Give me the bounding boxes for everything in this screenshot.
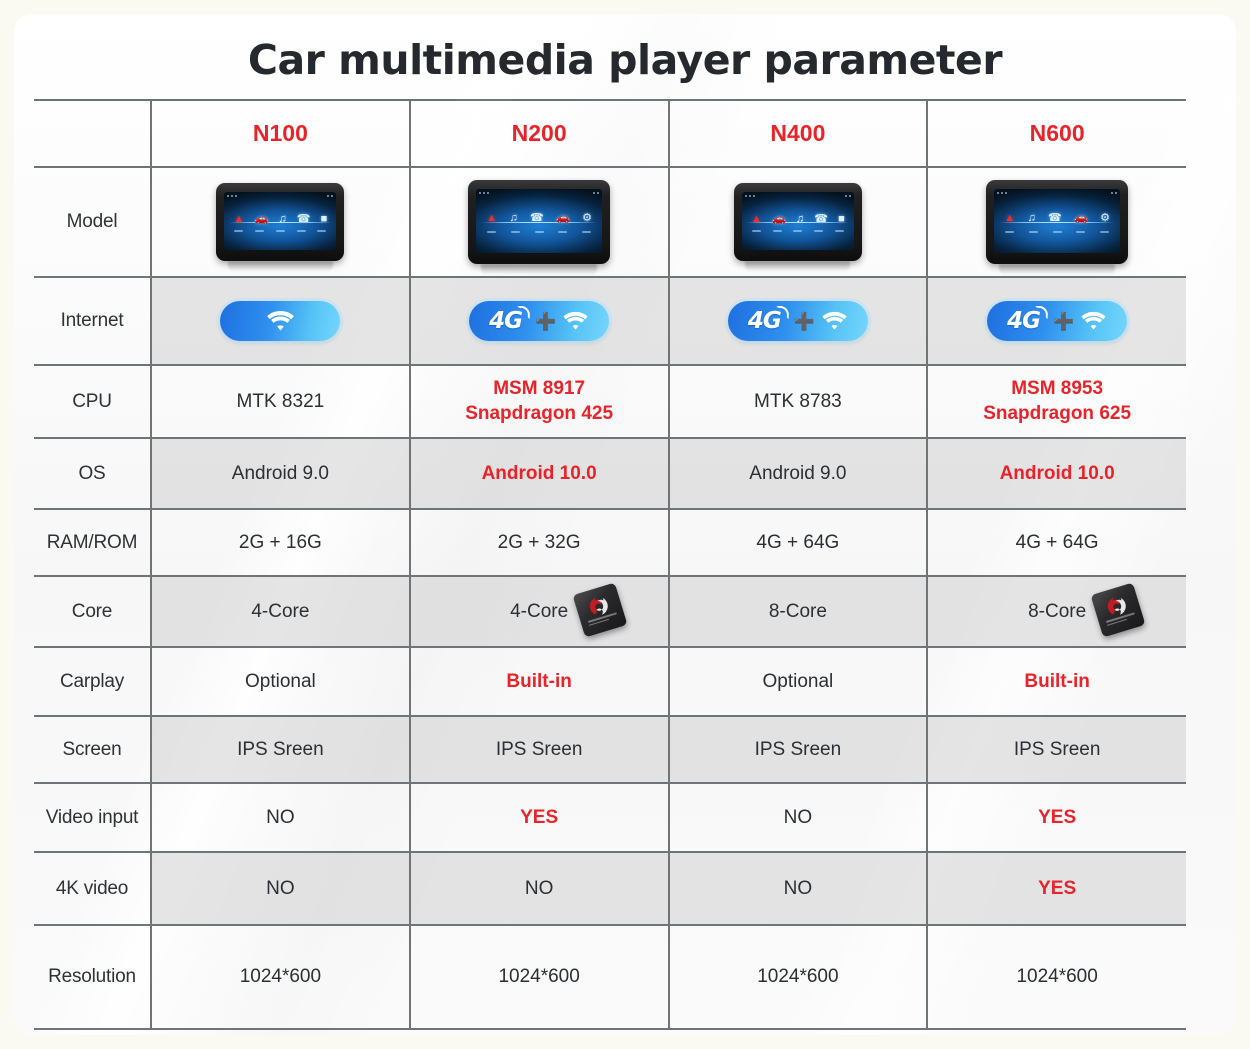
wifi-glyph [821, 311, 848, 331]
cell-core-n400: 8-Core [669, 576, 928, 647]
cell-os-n100: Android 9.0 [151, 438, 410, 509]
cell-cpu-n100: MTK 8321 [151, 365, 410, 438]
4g-label: 4G [1007, 308, 1047, 334]
cell-model-n600: ▲♫☎🚗⚙ [927, 167, 1186, 277]
row-label-os: OS [34, 438, 151, 509]
cell-res-n400: 1024*600 [669, 925, 928, 1029]
row-label-core: Core [34, 576, 151, 647]
table-row: CPU MTK 8321 MSM 8917 Snapdragon 425 MTK… [34, 365, 1186, 438]
table-row: Resolution 1024*600 1024*600 1024*600 10… [34, 925, 1186, 1029]
cell-internet-n200: 4G ➕ [410, 277, 669, 365]
snapdragon-chip-icon [1091, 583, 1146, 638]
cell-internet-n100 [151, 277, 410, 365]
plus-sign: ➕ [535, 313, 556, 330]
table-row: 4K video NO NO NO YES [34, 852, 1186, 925]
core-value: 8-Core [1028, 601, 1086, 622]
table-row: OS Android 9.0 Android 10.0 Android 9.0 … [34, 438, 1186, 509]
cell-res-n100: 1024*600 [151, 925, 410, 1029]
cell-video-n600: YES [927, 783, 1186, 852]
row-label-4k-video: 4K video [34, 852, 151, 925]
cell-core-n600: 8-Core [927, 576, 1186, 647]
table-row: Screen IPS Sreen IPS Sreen IPS Sreen IPS… [34, 716, 1186, 783]
cell-ram-n400: 4G + 64G [669, 509, 928, 576]
cell-video-n400: NO [669, 783, 928, 852]
snapdragon-chip-icon [572, 583, 627, 638]
row-label-video-input: Video input [34, 783, 151, 852]
cell-ram-n200: 2G + 32G [410, 509, 669, 576]
cell-4k-n200: NO [410, 852, 669, 925]
cell-os-n400: Android 9.0 [669, 438, 928, 509]
plus-sign: ➕ [794, 313, 815, 330]
cell-4k-n400: NO [669, 852, 928, 925]
wifi-glyph [562, 311, 589, 331]
car-head-unit-image: ▲♫☎🚗⚙ [468, 180, 610, 264]
cell-model-n400: ▲🚗♫☎■ [669, 167, 928, 277]
car-head-unit-image: ▲🚗♫☎■ [216, 183, 344, 261]
row-label-cpu: CPU [34, 365, 151, 438]
cell-res-n200: 1024*600 [410, 925, 669, 1029]
spec-table-body: Model ▲🚗♫☎■ [34, 167, 1186, 1029]
cell-4k-n100: NO [151, 852, 410, 925]
wifi-glyph [266, 310, 295, 332]
row-label-ram-rom: RAM/ROM [34, 509, 151, 576]
spec-table-wrapper: N100 N200 N400 N600 Model ▲🚗♫☎■ [34, 99, 1186, 1030]
cell-internet-n600: 4G ➕ [927, 277, 1186, 365]
wifi-glyph [1080, 311, 1107, 331]
cell-cpu-n400: MTK 8783 [669, 365, 928, 438]
cell-cpu-n600: MSM 8953 Snapdragon 625 [927, 365, 1186, 438]
cell-carplay-n400: Optional [669, 647, 928, 716]
4g-label: 4G [748, 308, 788, 334]
column-header-n600: N600 [927, 100, 1186, 167]
spec-comparison-table: N100 N200 N400 N600 Model ▲🚗♫☎■ [34, 99, 1186, 1030]
cell-screen-n600: IPS Sreen [927, 716, 1186, 783]
cell-video-n200: YES [410, 783, 669, 852]
cell-model-n100: ▲🚗♫☎■ [151, 167, 410, 277]
cell-carplay-n600: Built-in [927, 647, 1186, 716]
cell-internet-n400: 4G ➕ [669, 277, 928, 365]
table-row: Carplay Optional Built-in Optional Built… [34, 647, 1186, 716]
core-value: 4-Core [510, 601, 568, 622]
row-label-resolution: Resolution [34, 925, 151, 1029]
cell-model-n200: ▲♫☎🚗⚙ [410, 167, 669, 277]
car-head-unit-image: ▲🚗♫☎■ [734, 183, 862, 261]
4g-wifi-icon: 4G ➕ [469, 301, 609, 341]
column-header-n200: N200 [410, 100, 669, 167]
cell-cpu-n200: MSM 8917 Snapdragon 425 [410, 365, 669, 438]
corner-cell [34, 100, 151, 167]
4g-wifi-icon: 4G ➕ [728, 301, 868, 341]
cell-os-n200: Android 10.0 [410, 438, 669, 509]
wifi-icon [220, 301, 340, 341]
table-row: RAM/ROM 2G + 16G 2G + 32G 4G + 64G 4G + … [34, 509, 1186, 576]
4g-wifi-icon: 4G ➕ [987, 301, 1127, 341]
row-label-carplay: Carplay [34, 647, 151, 716]
cpu-line-2: Snapdragon 625 [928, 402, 1186, 426]
cell-screen-n200: IPS Sreen [410, 716, 669, 783]
cell-ram-n600: 4G + 64G [927, 509, 1186, 576]
cell-screen-n100: IPS Sreen [151, 716, 410, 783]
table-row: Video input NO YES NO YES [34, 783, 1186, 852]
cpu-line-2: Snapdragon 425 [411, 402, 668, 426]
row-label-model: Model [34, 167, 151, 277]
cell-core-n100: 4-Core [151, 576, 410, 647]
table-row: Core 4-Core 4-Core 8-Core 8-Core [34, 576, 1186, 647]
cell-carplay-n100: Optional [151, 647, 410, 716]
row-label-screen: Screen [34, 716, 151, 783]
plus-sign: ➕ [1053, 313, 1074, 330]
car-head-unit-image: ▲♫☎🚗⚙ [986, 180, 1128, 264]
column-header-n100: N100 [151, 100, 410, 167]
cpu-line-1: MSM 8953 [928, 377, 1186, 401]
table-row: Model ▲🚗♫☎■ [34, 167, 1186, 277]
4g-label: 4G [489, 308, 529, 334]
column-header-n400: N400 [669, 100, 928, 167]
cell-4k-n600: YES [927, 852, 1186, 925]
cell-os-n600: Android 10.0 [927, 438, 1186, 509]
table-row: Internet 4G ➕ [34, 277, 1186, 365]
cell-carplay-n200: Built-in [410, 647, 669, 716]
cell-screen-n400: IPS Sreen [669, 716, 928, 783]
cell-res-n600: 1024*600 [927, 925, 1186, 1029]
cpu-line-1: MSM 8917 [411, 377, 668, 401]
page-title: Car multimedia player parameter [0, 36, 1250, 84]
cell-core-n200: 4-Core [410, 576, 669, 647]
row-label-internet: Internet [34, 277, 151, 365]
table-header-row: N100 N200 N400 N600 [34, 100, 1186, 167]
cell-ram-n100: 2G + 16G [151, 509, 410, 576]
cell-video-n100: NO [151, 783, 410, 852]
